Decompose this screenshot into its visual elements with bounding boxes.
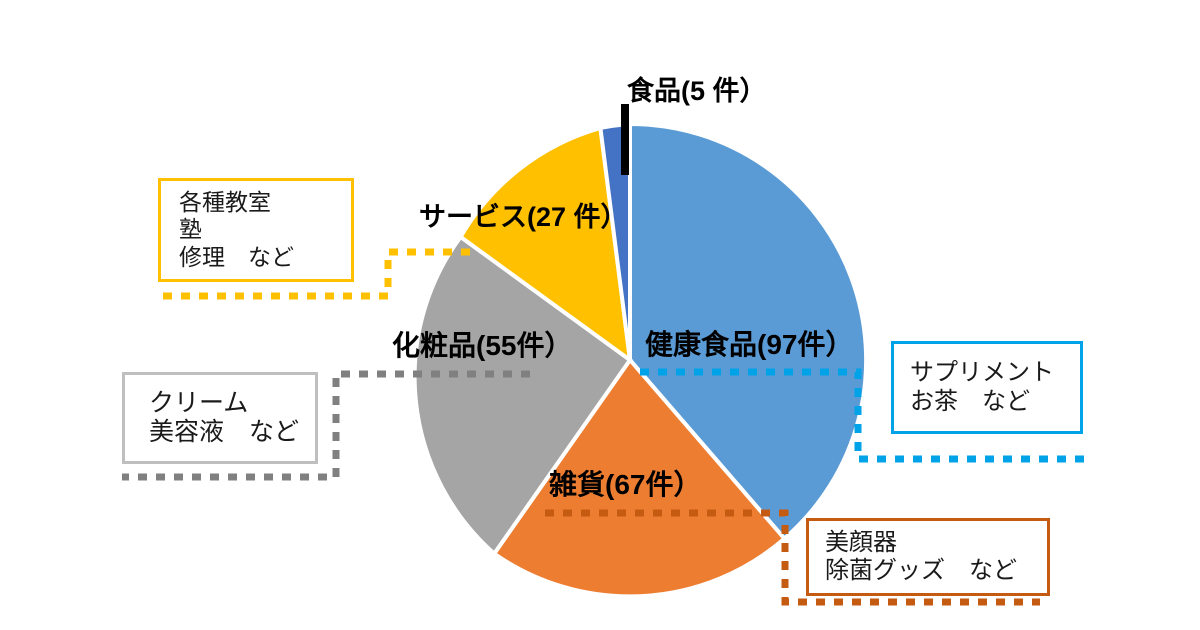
pie-chart-figure: 食品(5 件） サービス(27 件） 化粧品(55件） 健康食品(97件） 雑貨…	[0, 0, 1200, 630]
callout-kyoushitsu-line-2: 塾	[179, 216, 351, 243]
callout-supplement[interactable]: サプリメント お茶 など	[891, 341, 1083, 434]
callout-cream-line-2: 美容液 など	[149, 418, 315, 448]
callout-kyoushitsu-line-1: 各種教室	[179, 189, 351, 216]
callout-bigankki-line-2: 除菌グッズ など	[825, 557, 1047, 585]
callout-supplement-line-1: サプリメント	[910, 359, 1080, 387]
pie-label-keshouhin: 化粧品(55件）	[392, 332, 572, 360]
pie-label-service: サービス(27 件）	[419, 204, 628, 231]
callout-cream[interactable]: クリーム 美容液 など	[122, 372, 318, 464]
pie-label-shokuhin: 食品(5 件）	[627, 78, 767, 105]
callout-supplement-line-2: お茶 など	[910, 388, 1080, 416]
pie-label-kenkou-shokuhin: 健康食品(97件）	[645, 331, 853, 359]
pie-label-zakka: 雑貨(67件）	[549, 471, 701, 499]
callout-cream-line-1: クリーム	[149, 389, 315, 419]
callout-bigankki-line-1: 美顔器	[825, 529, 1047, 557]
callout-bigankki[interactable]: 美顔器 除菌グッズ など	[806, 518, 1050, 596]
callout-kyoushitsu[interactable]: 各種教室 塾 修理 など	[158, 178, 354, 282]
callout-kyoushitsu-line-3: 修理 など	[179, 244, 351, 271]
